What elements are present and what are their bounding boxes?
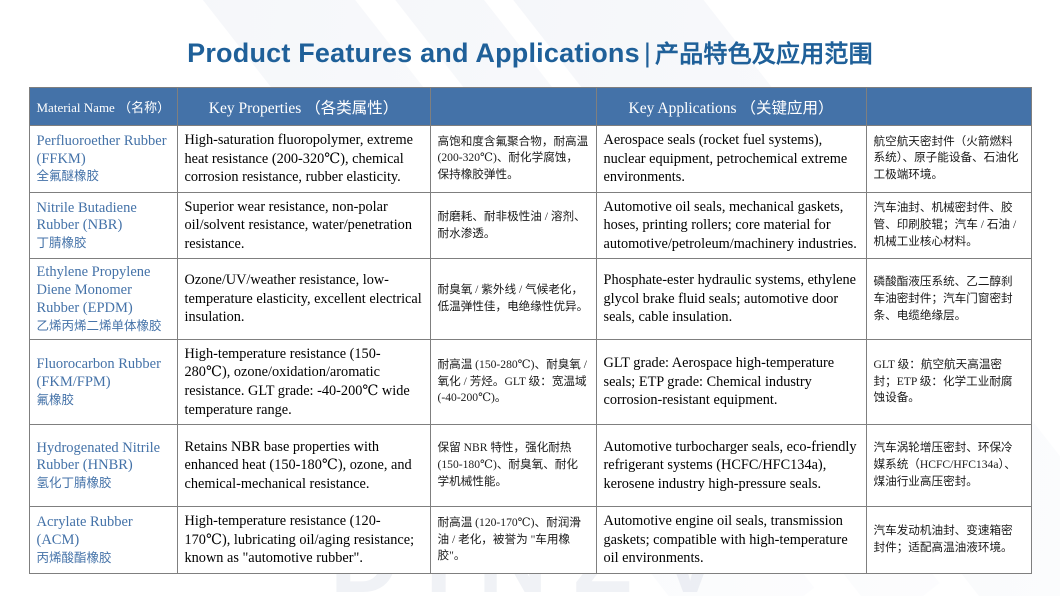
cell-material-name: Fluorocarbon Rubber (FKM/FPM) 氟橡胶 <box>29 339 177 424</box>
cell-material-name: Perfluoroether Rubber (FFKM) 全氟醚橡胶 <box>29 126 177 193</box>
page-title: Product Features and Applications|产品特色及应… <box>0 34 1060 69</box>
material-name-zh: 氢化丁腈橡胶 <box>37 476 170 491</box>
table-head: Material Name （名称） Key Properties （各类属性）… <box>29 88 1031 126</box>
table-row: Fluorocarbon Rubber (FKM/FPM) 氟橡胶 High-t… <box>29 339 1031 424</box>
material-name-zh: 丙烯酸酯橡胶 <box>37 551 170 566</box>
column-header-properties-zh <box>430 88 596 126</box>
cell-applications-zh: 汽车发动机油封、变速箱密封件；适配高温油液环境。 <box>866 507 1031 574</box>
cell-applications-zh: 航空航天密封件（火箭燃料系统）、原子能设备、石油化工极端环境。 <box>866 126 1031 193</box>
material-name-zh: 氟橡胶 <box>37 393 170 408</box>
table-header-row: Material Name （名称） Key Properties （各类属性）… <box>29 88 1031 126</box>
material-spec-table: Material Name （名称） Key Properties （各类属性）… <box>29 87 1032 574</box>
column-header-material-name: Material Name （名称） <box>29 88 177 126</box>
cell-material-name: Nitrile Butadiene Rubber (NBR) 丁腈橡胶 <box>29 192 177 259</box>
cell-applications-en: Automotive turbocharger seals, eco-frien… <box>596 425 866 507</box>
cell-properties-zh: 高饱和度含氟聚合物，耐高温 (200-320℃)、耐化学腐蚀，保持橡胶弹性。 <box>430 126 596 193</box>
cell-properties-zh: 耐磨耗、耐非极性油 / 溶剂、耐水渗透。 <box>430 192 596 259</box>
cell-properties-en: Ozone/UV/weather resistance, low-tempera… <box>177 259 430 339</box>
table-body: Perfluoroether Rubber (FFKM) 全氟醚橡胶 High-… <box>29 126 1031 574</box>
material-name-zh: 乙烯丙烯二烯单体橡胶 <box>37 319 170 334</box>
cell-properties-en: High-temperature resistance (150-280℃), … <box>177 339 430 424</box>
cell-applications-en: Phosphate-ester hydraulic systems, ethyl… <box>596 259 866 339</box>
cell-applications-en: Automotive oil seals, mechanical gaskets… <box>596 192 866 259</box>
page-title-zh: 产品特色及应用范围 <box>655 41 873 68</box>
material-name-en: Fluorocarbon Rubber (FKM/FPM) <box>37 356 161 390</box>
cell-applications-zh: 磷酸酯液压系统、乙二醇刹车油密封件；汽车门窗密封条、电缆绝缘层。 <box>866 259 1031 339</box>
cell-applications-en: GLT grade: Aerospace high-temperature se… <box>596 339 866 424</box>
column-header-key-applications: Key Applications （关键应用） <box>596 88 866 126</box>
cell-applications-zh: 汽车涡轮增压密封、环保冷媒系统（HCFC/HFC134a）、煤油行业高压密封。 <box>866 425 1031 507</box>
table-row: Perfluoroether Rubber (FFKM) 全氟醚橡胶 High-… <box>29 126 1031 193</box>
cell-properties-zh: 保留 NBR 特性，强化耐热 (150-180℃)、耐臭氧、耐化学机械性能。 <box>430 425 596 507</box>
material-name-zh: 丁腈橡胶 <box>37 236 170 251</box>
column-header-applications-zh <box>866 88 1031 126</box>
cell-applications-en: Aerospace seals (rocket fuel systems), n… <box>596 126 866 193</box>
page-title-separator: | <box>640 38 655 68</box>
cell-properties-en: High-saturation fluoropolymer, extreme h… <box>177 126 430 193</box>
cell-properties-en: Superior wear resistance, non-polar oil/… <box>177 192 430 259</box>
cell-material-name: Acrylate Rubber (ACM) 丙烯酸酯橡胶 <box>29 507 177 574</box>
table-row: Ethylene Propylene Diene Monomer Rubber … <box>29 259 1031 339</box>
material-name-zh: 全氟醚橡胶 <box>37 169 170 184</box>
column-header-key-properties: Key Properties （各类属性） <box>177 88 430 126</box>
cell-properties-zh: 耐高温 (120-170℃)、耐润滑油 / 老化，被誉为 "车用橡胶"。 <box>430 507 596 574</box>
page-title-en: Product Features and Applications <box>187 38 640 68</box>
slide-page: Product Features and Applications|产品特色及应… <box>0 0 1060 596</box>
cell-applications-zh: 汽车油封、机械密封件、胶管、印刷胶辊；汽车 / 石油 / 机械工业核心材料。 <box>866 192 1031 259</box>
table-row: Hydrogenated Nitrile Rubber (HNBR) 氢化丁腈橡… <box>29 425 1031 507</box>
cell-properties-zh: 耐臭氧 / 紫外线 / 气候老化，低温弹性佳，电绝缘性优异。 <box>430 259 596 339</box>
title-bar: Product Features and Applications|产品特色及应… <box>0 0 1060 87</box>
cell-material-name: Hydrogenated Nitrile Rubber (HNBR) 氢化丁腈橡… <box>29 425 177 507</box>
cell-material-name: Ethylene Propylene Diene Monomer Rubber … <box>29 259 177 339</box>
material-name-en: Acrylate Rubber (ACM) <box>37 514 133 548</box>
material-name-en: Perfluoroether Rubber (FFKM) <box>37 133 167 167</box>
material-name-en: Hydrogenated Nitrile Rubber (HNBR) <box>37 440 161 474</box>
cell-properties-en: Retains NBR base properties with enhance… <box>177 425 430 507</box>
table-row: Nitrile Butadiene Rubber (NBR) 丁腈橡胶 Supe… <box>29 192 1031 259</box>
cell-applications-zh: GLT 级：航空航天高温密封；ETP 级：化学工业耐腐蚀设备。 <box>866 339 1031 424</box>
material-name-en: Ethylene Propylene Diene Monomer Rubber … <box>37 264 151 315</box>
material-name-en: Nitrile Butadiene Rubber (NBR) <box>37 200 137 234</box>
table-row: Acrylate Rubber (ACM) 丙烯酸酯橡胶 High-temper… <box>29 507 1031 574</box>
cell-properties-zh: 耐高温 (150-280℃)、耐臭氧 / 氧化 / 芳烃。GLT 级：宽温域 (… <box>430 339 596 424</box>
cell-properties-en: High-temperature resistance (120-170℃), … <box>177 507 430 574</box>
cell-applications-en: Automotive engine oil seals, transmissio… <box>596 507 866 574</box>
